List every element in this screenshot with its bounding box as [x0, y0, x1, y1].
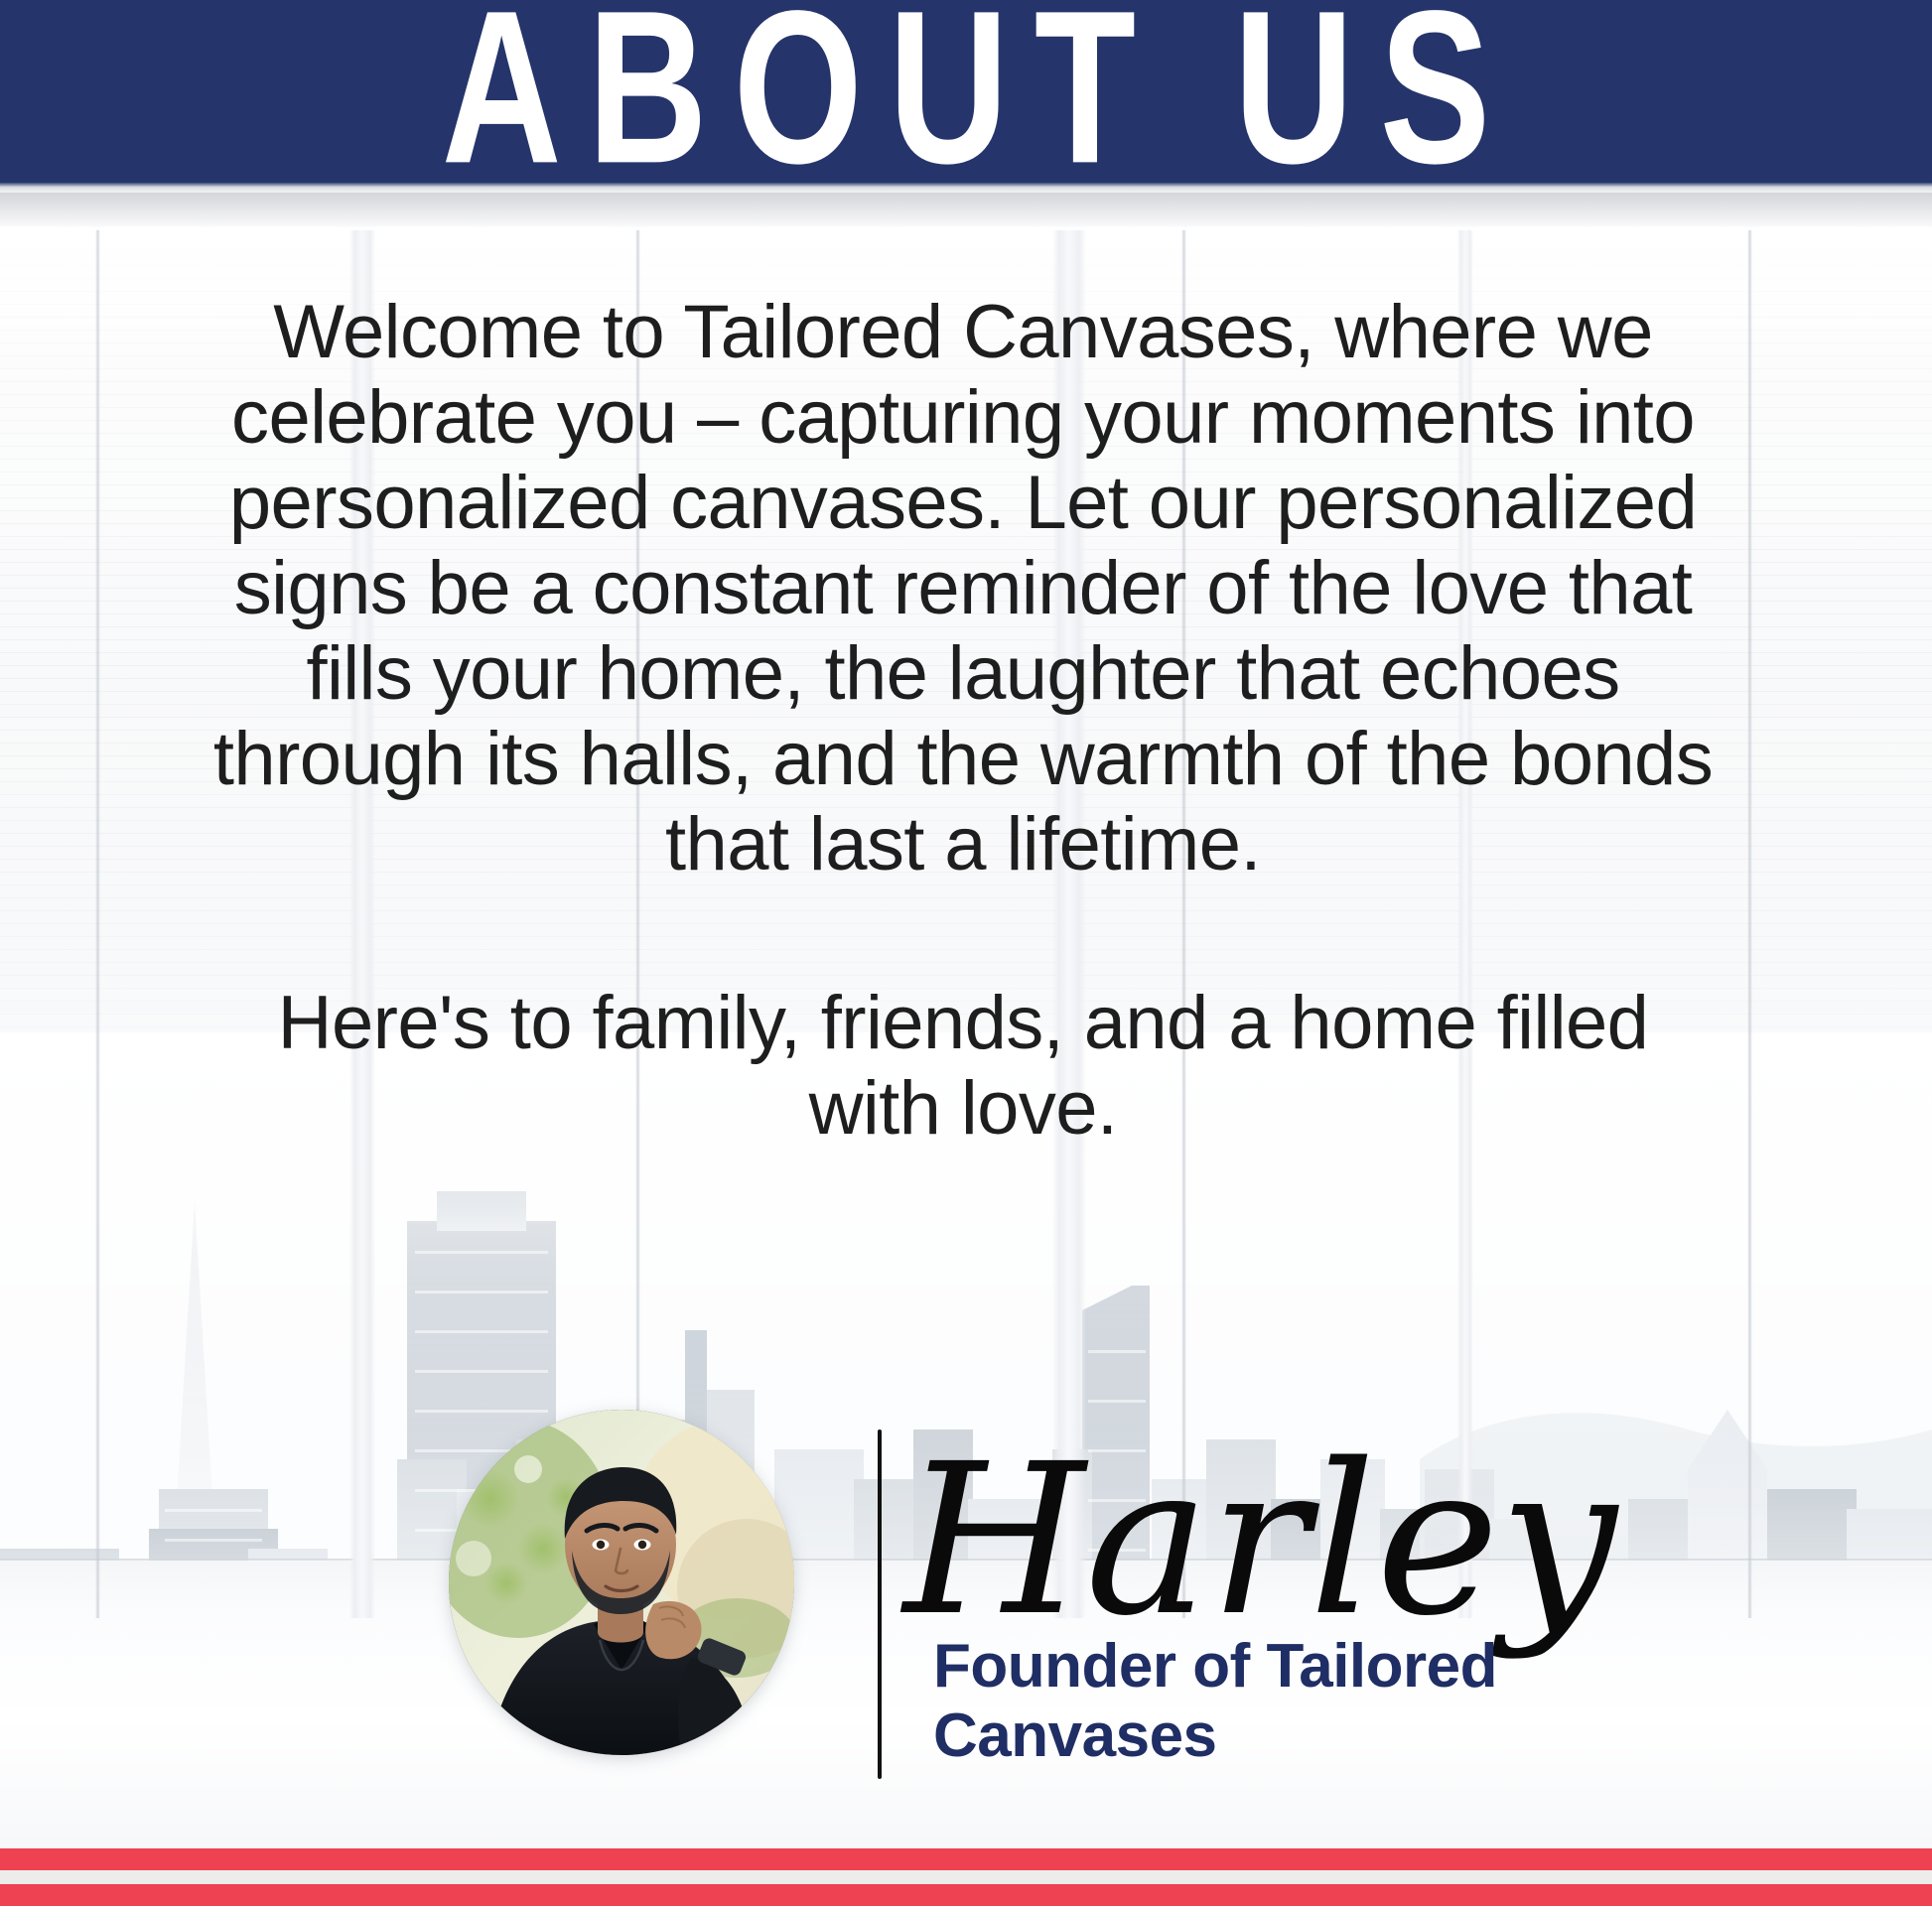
- founder-role: Founder of Tailored Canvases: [933, 1632, 1628, 1771]
- signature-text: Harley: [899, 1419, 1619, 1662]
- founder-block: Harley Founder of Tailored Canvases: [0, 1388, 1932, 1825]
- page-title: ABOUT US: [416, 0, 1517, 183]
- founder-role-line-1: Founder of Tailored: [933, 1632, 1628, 1702]
- footer-accent-bar-gap: [0, 1870, 1932, 1884]
- about-paragraph-1: Welcome to Tailored Canvases, where we c…: [208, 290, 1718, 887]
- about-us-poster: ABOUT US Welcome to Tailored Canvases, w…: [0, 0, 1932, 1906]
- vertical-divider: [878, 1429, 882, 1779]
- founder-role-line-2: Canvases: [933, 1702, 1628, 1771]
- paragraph-gap: [208, 887, 1718, 981]
- header-banner: ABOUT US: [0, 0, 1932, 183]
- about-copy: Welcome to Tailored Canvases, where we c…: [208, 290, 1718, 1152]
- footer-accent-bar-bottom: [0, 1884, 1932, 1906]
- banner-drop-shadow: [0, 193, 1932, 228]
- about-paragraph-2: Here's to family, friends, and a home fi…: [208, 981, 1718, 1152]
- banner-underline: [0, 183, 1932, 193]
- footer-accent-bar-top: [0, 1848, 1932, 1870]
- avatar: [449, 1410, 794, 1755]
